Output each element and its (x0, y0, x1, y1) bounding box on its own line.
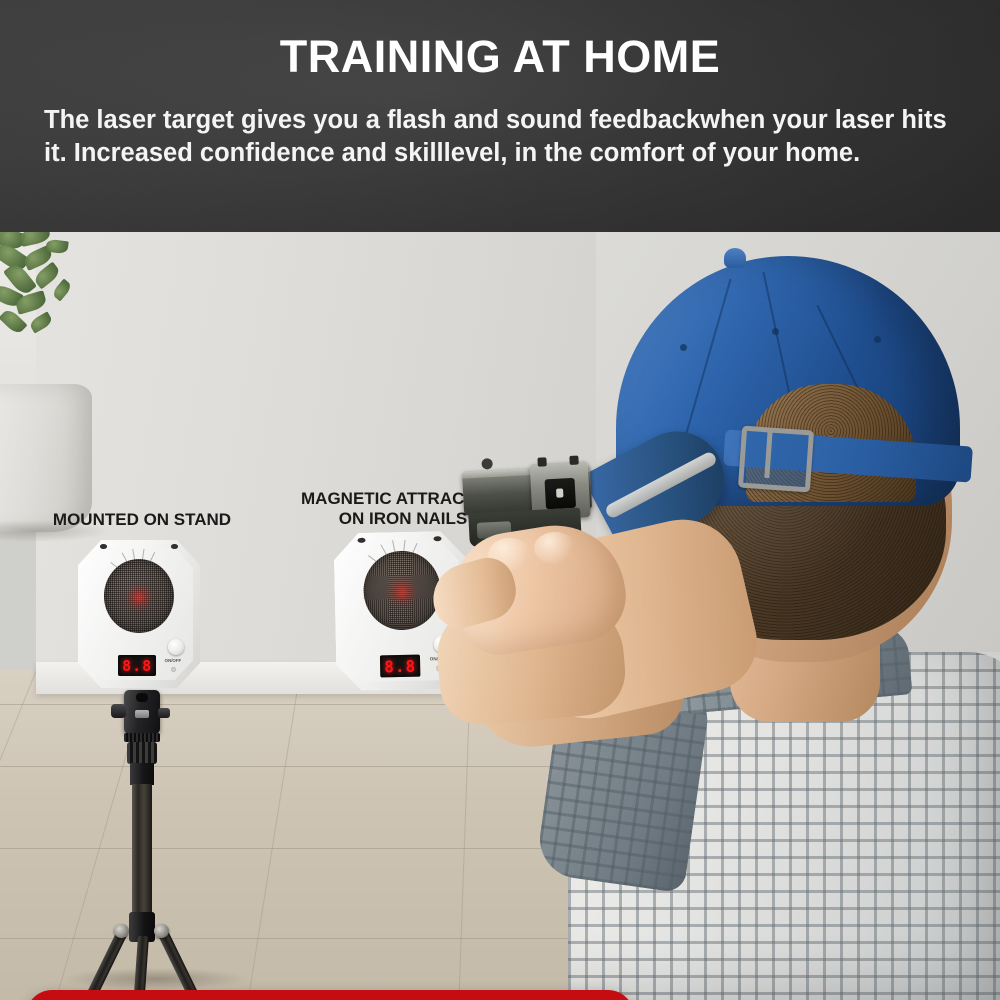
product-photo-scene: MOUNTED ON STAND MAGNETIC ATTRACTION ON … (0, 232, 1000, 1000)
brand-badge (135, 710, 149, 718)
score-display: 8.8 (118, 655, 156, 676)
ball-head-lock-knob[interactable] (111, 704, 126, 718)
pistol-takedown-pin (481, 458, 493, 470)
score-display: 8.8 (379, 655, 420, 678)
laser-target-device-on-stand[interactable]: 8.8 ON/OFF (78, 540, 200, 688)
pistol-sight-left (537, 457, 546, 466)
shooter-person (430, 232, 1000, 1000)
caption-mounted-on-stand: MOUNTED ON STAND (32, 510, 252, 530)
power-button-label: ON/OFF (165, 658, 182, 663)
ball-head-ridge (124, 733, 160, 742)
pistol-sight-aperture (556, 488, 563, 497)
pistol-sight-right (569, 456, 578, 465)
status-led (171, 667, 176, 672)
tripod-stand (96, 684, 188, 984)
header-subtitle: The laser target gives you a flash and s… (44, 104, 974, 170)
center-column-collar[interactable] (127, 742, 157, 764)
page-title: TRAINING AT HOME (0, 31, 1000, 83)
leg-hinge-left (114, 924, 129, 938)
cap-buckle[interactable] (738, 426, 814, 493)
target-mesh-face[interactable] (104, 559, 175, 633)
cap-top-button (724, 248, 746, 268)
feature-callout-box: Vibrating sound activatedlaser Easy to u… (26, 990, 634, 1000)
plant-foliage (0, 232, 94, 348)
product-infographic: TRAINING AT HOME The laser target gives … (0, 0, 1000, 1000)
ball-head-pan-knob[interactable] (158, 708, 170, 718)
device-screw-left (357, 537, 365, 542)
center-column (132, 784, 152, 914)
header-banner: TRAINING AT HOME The laser target gives … (0, 0, 1000, 232)
leg-hinge-right (154, 924, 169, 938)
ball-head-slot (136, 693, 148, 702)
center-column-neck (130, 763, 154, 785)
